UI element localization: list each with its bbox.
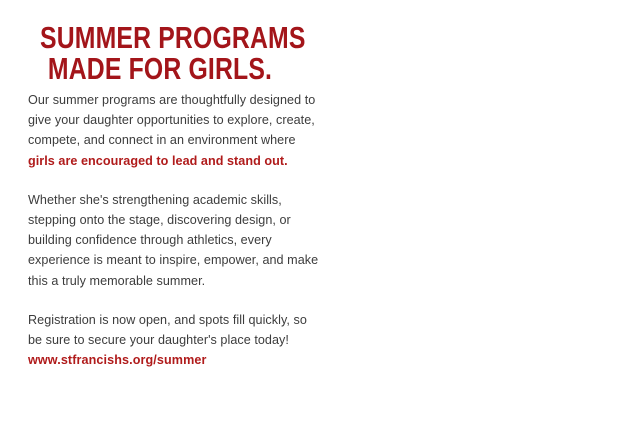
paragraph-registration-text: Registration is now open, and spots fill… <box>28 313 307 347</box>
paragraph-intro-lead: Our summer programs are thoughtfully des… <box>28 93 315 147</box>
paragraph-intro-emphasis: girls are encouraged to lead and stand o… <box>28 154 288 168</box>
paragraph-experience: Whether she's strengthening academic ski… <box>28 190 320 291</box>
paragraph-intro: Our summer programs are thoughtfully des… <box>28 90 320 171</box>
headline-line-1: SUMMER PROGRAMS <box>40 22 280 53</box>
paragraph-registration: Registration is now open, and spots fill… <box>28 310 320 371</box>
registration-url-link[interactable]: www.stfrancishs.org/summer <box>28 350 320 370</box>
page-title: SUMMER PROGRAMS MADE FOR GIRLS. <box>40 22 280 84</box>
text-content-column: SUMMER PROGRAMS MADE FOR GIRLS. Our summ… <box>0 0 330 427</box>
image-placeholder-area <box>330 0 640 427</box>
slide-canvas: SUMMER PROGRAMS MADE FOR GIRLS. Our summ… <box>0 0 640 427</box>
body-copy: Our summer programs are thoughtfully des… <box>28 90 320 370</box>
headline-line-2: MADE FOR GIRLS. <box>40 53 280 84</box>
